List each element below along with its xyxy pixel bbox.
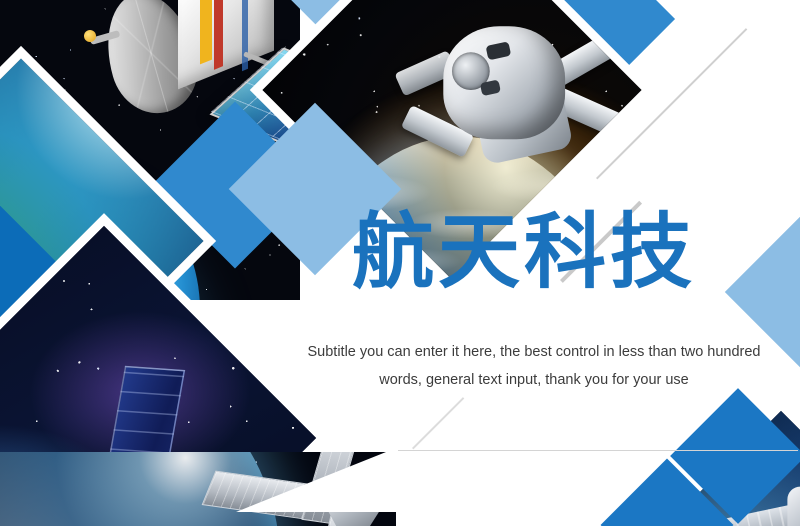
bus-stripe-blue: [242, 0, 248, 71]
poster-canvas: 航天科技 Subtitle you can enter it here, the…: [0, 0, 800, 526]
decor-rule-horizontal: [398, 450, 798, 451]
satellite-body: [787, 487, 800, 526]
page-title: 航天科技: [352, 212, 696, 294]
bus-stripe-red: [214, 0, 223, 70]
page-subtitle: Subtitle you can enter it here, the best…: [288, 338, 780, 395]
bus-stripe-yellow: [200, 0, 212, 64]
capsule-spacecraft: [405, 12, 608, 186]
satellite-illustration: [92, 0, 300, 156]
dish-feed-tip: [84, 30, 96, 42]
